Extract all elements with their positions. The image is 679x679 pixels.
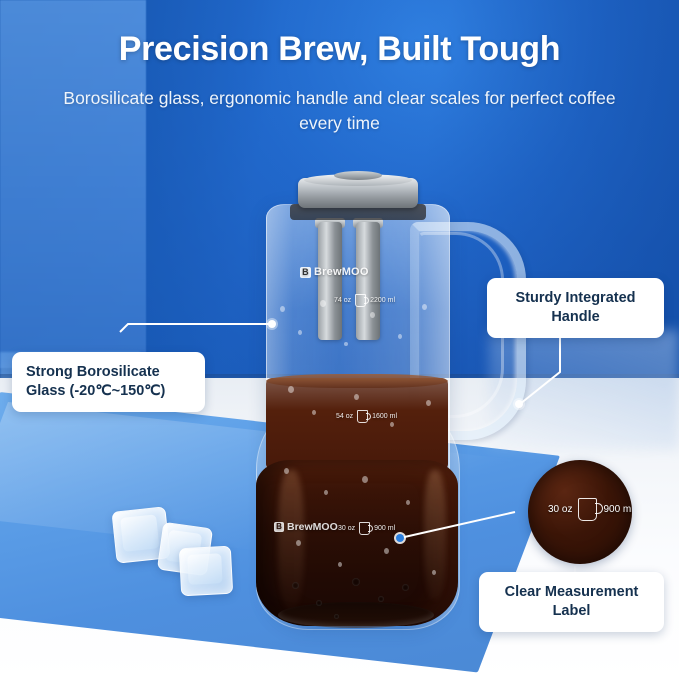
callout-line-1: Sturdy Integrated <box>501 289 650 308</box>
measurement-oz: 54 oz <box>336 413 353 421</box>
measurement-zoom-bubble: 30 oz 900 ml <box>528 460 632 564</box>
measurement-mark-900: 30 oz 900 ml <box>338 522 395 535</box>
callout-borosilicate-glass: Strong Borosilicate Glass (-20℃~150℃) <box>12 352 205 412</box>
callout-line-2: Handle <box>501 308 650 327</box>
callout-line-2: Label <box>493 602 650 621</box>
callout-line-1: Strong Borosilicate <box>26 363 191 382</box>
cup-icon <box>359 522 370 535</box>
condensation-droplets <box>266 290 456 630</box>
product-infographic: Precision Brew, Built Tough Borosilicate… <box>0 0 679 679</box>
brand-logo-lower: B BrewMOO <box>274 521 338 533</box>
cup-icon <box>578 498 597 521</box>
zoom-measurement-oz: 30 oz <box>548 504 572 515</box>
cup-icon <box>357 410 368 423</box>
headline: Precision Brew, Built Tough <box>0 30 679 69</box>
callout-integrated-handle: Sturdy Integrated Handle <box>487 278 664 338</box>
callout-measurement-label: Clear Measurement Label <box>479 572 664 632</box>
ice-cube-face <box>120 514 159 552</box>
callout-line-2: Glass (-20℃~150℃) <box>26 382 191 401</box>
measurement-ml: 900 ml <box>374 525 395 533</box>
brand-name: BrewMOO <box>314 266 369 278</box>
zoom-measurement-ml: 900 ml <box>603 504 632 515</box>
ice-cube-3 <box>179 546 233 597</box>
carafe: B BrewMOO B BrewMOO 74 oz 2200 ml 54 oz … <box>238 170 528 625</box>
leader-dot-label <box>396 534 404 542</box>
carafe-lid-knob <box>334 171 382 180</box>
leader-dot-glass <box>268 320 276 328</box>
zoom-measurement-mark: 30 oz 900 ml <box>548 498 632 521</box>
brand-mark-icon: B <box>300 267 311 278</box>
leader-dot-handle <box>515 400 523 408</box>
ice-cube-face <box>187 553 223 585</box>
measurement-oz: 30 oz <box>338 525 355 533</box>
cup-icon <box>355 294 366 307</box>
subheadline: Borosilicate glass, ergonomic handle and… <box>52 86 627 136</box>
brand-logo-upper: B BrewMOO <box>300 266 369 278</box>
brand-mark-icon: B <box>274 522 284 532</box>
measurement-ml: 1600 ml <box>372 413 397 421</box>
measurement-mark-2200: 74 oz 2200 ml <box>334 294 395 307</box>
callout-line-1: Clear Measurement <box>493 583 650 602</box>
measurement-mark-1600: 54 oz 1600 ml <box>336 410 397 423</box>
measurement-ml: 2200 ml <box>370 297 395 305</box>
brand-name: BrewMOO <box>287 521 338 533</box>
measurement-oz: 74 oz <box>334 297 351 305</box>
